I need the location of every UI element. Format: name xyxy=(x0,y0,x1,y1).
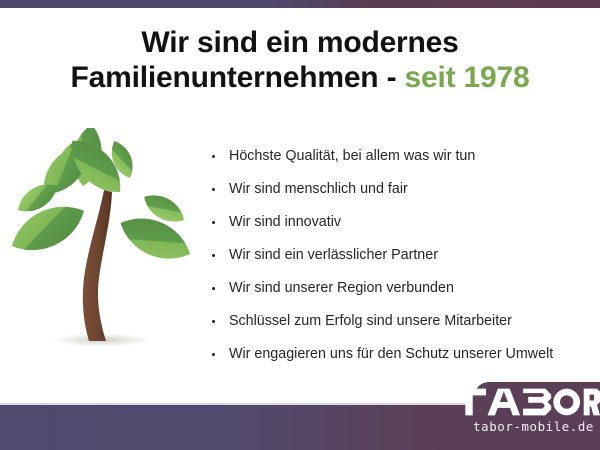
bullet-dot-icon xyxy=(212,221,215,224)
tree-trunk xyxy=(83,190,112,341)
list-item: Wir sind ein verlässlicher Partner xyxy=(209,239,594,272)
list-item: Schlüssel zum Erfolg sind unsere Mitarbe… xyxy=(209,305,594,338)
bullet-dot-icon xyxy=(212,320,215,323)
list-item-label: Wir sind menschlich und fair xyxy=(229,181,408,197)
bullet-dot-icon xyxy=(212,287,215,290)
brand-logo[interactable]: tabor-mobile.de xyxy=(452,386,600,434)
list-item: Wir sind menschlich und fair xyxy=(209,173,594,206)
slide-canvas: Wir sind ein modernes Familienunternehme… xyxy=(0,0,600,450)
tabor-wordmark xyxy=(452,386,600,418)
headline-line-1: Wir sind ein modernes xyxy=(0,26,600,61)
bullet-dot-icon xyxy=(212,188,215,191)
tree-leaf-low-right xyxy=(114,207,197,269)
bullet-dot-icon xyxy=(212,254,215,257)
list-item: Höchste Qualität, bei allem was wir tun xyxy=(209,140,594,173)
headline-line-2-main: Familienunternehmen - xyxy=(71,61,397,94)
list-item-label: Wir sind ein verlässlicher Partner xyxy=(229,247,438,263)
list-item-label: Schlüssel zum Erfolg sind unsere Mitarbe… xyxy=(229,313,512,329)
bullet-dot-icon xyxy=(212,155,215,158)
list-item-label: Wir sind unserer Region verbunden xyxy=(229,280,454,296)
list-item: Wir sind unserer Region verbunden xyxy=(209,272,594,305)
list-item: Wir sind innovativ xyxy=(209,206,594,239)
top-accent-bar xyxy=(0,0,600,8)
benefits-list: Höchste Qualität, bei allem was wir tun … xyxy=(209,140,594,371)
list-item-label: Wir engagieren uns für den Schutz unsere… xyxy=(229,346,553,362)
list-item-label: Wir sind innovativ xyxy=(229,214,341,230)
tree-illustration xyxy=(8,128,198,360)
bullet-dot-icon xyxy=(212,353,215,356)
list-item-label: Höchste Qualität, bei allem was wir tun xyxy=(229,148,475,164)
list-item: Wir engagieren uns für den Schutz unsere… xyxy=(209,338,594,371)
page-title: Wir sind ein modernes Familienunternehme… xyxy=(0,26,600,96)
headline-accent: seit 1978 xyxy=(405,61,530,94)
logo-tagline: tabor-mobile.de xyxy=(452,419,600,434)
headline-line-2: Familienunternehmen - seit 1978 xyxy=(0,61,600,96)
